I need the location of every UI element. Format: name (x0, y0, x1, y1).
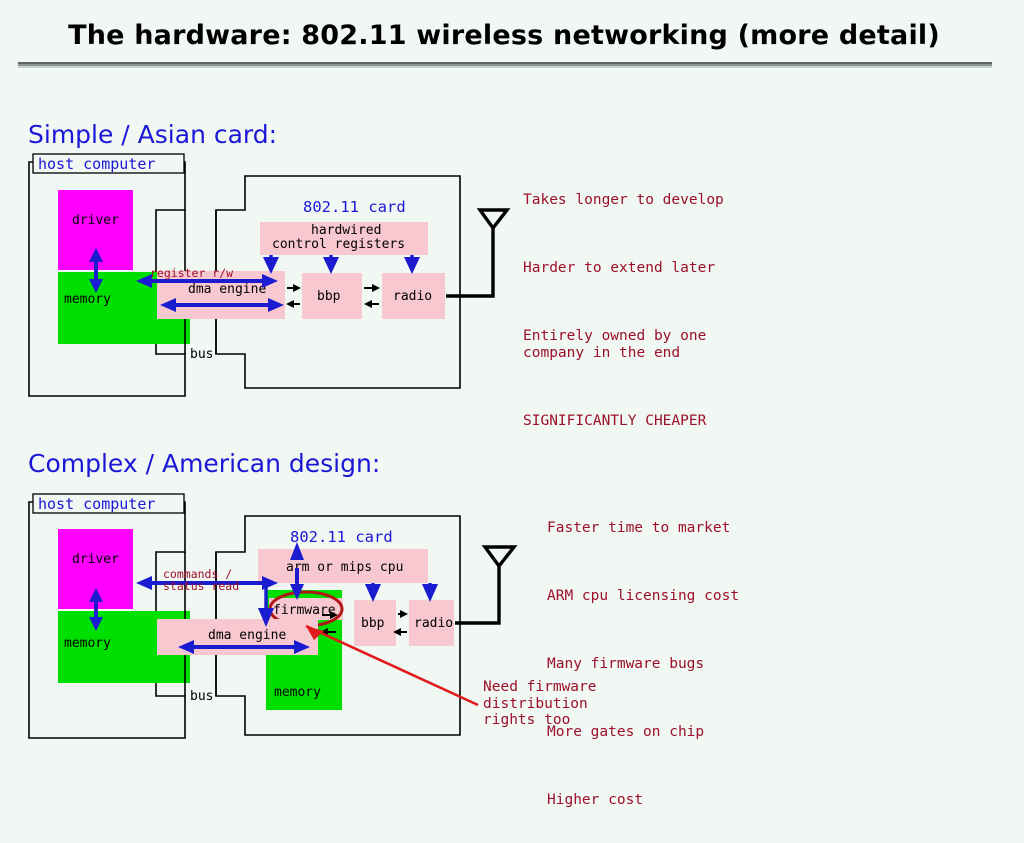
host-memory-label: memory (64, 292, 111, 307)
notes-list-complex: Faster time to market ARM cpu licensing … (547, 486, 739, 843)
cpu-chip-down-arrows (365, 583, 438, 602)
notes-list-simple: Takes longer to develop Harder to extend… (523, 158, 724, 464)
card-title-complex: 802.11 card (290, 528, 393, 546)
section-heading-simple: Simple / Asian card: (28, 120, 277, 149)
page-title: The hardware: 802.11 wireless networking… (0, 20, 1008, 51)
dma-engine-label-complex: dma engine (208, 628, 286, 643)
note-item: Many firmware bugs (547, 656, 739, 673)
bbp-label-simple: bbp (317, 289, 341, 304)
control-registers-label-line2: control registers (272, 237, 405, 252)
host-memory-label-complex: memory (64, 636, 111, 651)
bbp-label-complex: bbp (361, 616, 385, 631)
radio-label-simple: radio (393, 289, 432, 304)
dma-engine-label-simple: dma engine (188, 282, 266, 297)
note-item: Harder to extend later (523, 260, 724, 277)
control-registers-label-line1: hardwired (311, 223, 381, 238)
host-computer-label-complex: host computer (38, 495, 155, 513)
title-divider (18, 62, 992, 68)
commands-label-line2: status read (163, 579, 239, 593)
bus-label-complex: bus (190, 689, 213, 704)
control-register-down-arrows (263, 255, 420, 274)
antenna-icon-complex (455, 547, 514, 623)
card-memory-label: memory (274, 685, 321, 700)
cpu-label: arm or mips cpu (286, 560, 403, 575)
note-item: Entirely owned by one company in the end (523, 328, 724, 362)
diagram-complex-american-design: host computer driver memory 802.11 card … (0, 490, 540, 760)
bus-label-simple: bus (190, 347, 213, 362)
host-computer-label: host computer (38, 155, 155, 173)
antenna-icon-simple (446, 210, 507, 296)
driver-label: driver (72, 213, 119, 228)
slide-canvas: The hardware: 802.11 wireless networking… (0, 0, 1024, 768)
note-item: ARM cpu licensing cost (547, 588, 739, 605)
note-item: SIGNIFICANTLY CHEAPER (523, 413, 724, 430)
firmware-callout-text: Need firmware distribution rights too (483, 679, 597, 729)
radio-label-complex: radio (414, 616, 453, 631)
driver-label-complex: driver (72, 552, 119, 567)
card-title-simple: 802.11 card (303, 198, 406, 216)
diagram-simple-asian-card: host computer driver memory 802.11 card … (0, 150, 540, 410)
note-item: Higher cost (547, 792, 739, 809)
register-rw-label: register r/w (150, 266, 233, 280)
section-heading-complex: Complex / American design: (28, 449, 380, 478)
note-item: Faster time to market (547, 520, 739, 537)
note-item: Takes longer to develop (523, 192, 724, 209)
